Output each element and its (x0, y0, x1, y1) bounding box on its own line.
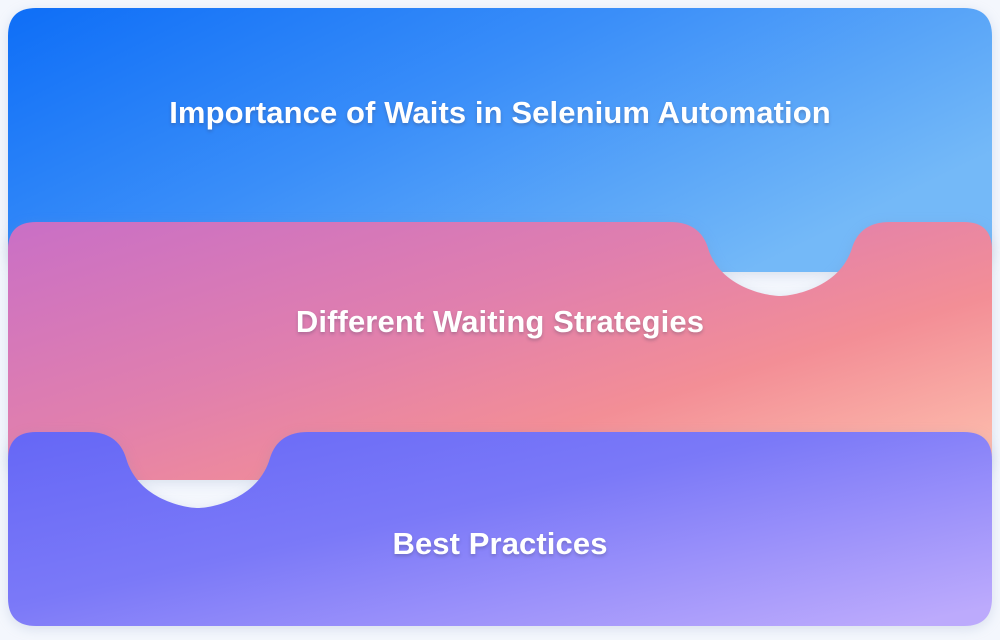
panel-stack: Importance of Waits in Selenium Automati… (0, 0, 1000, 640)
panel-1-label: Importance of Waits in Selenium Automati… (169, 95, 831, 131)
panel-3-shadow (8, 432, 992, 626)
panel-3-shape (8, 432, 992, 626)
panel-3-label: Best Practices (392, 526, 607, 562)
panel-best-practices[interactable]: Best Practices (8, 432, 992, 626)
panel-2-label: Different Waiting Strategies (296, 304, 704, 340)
